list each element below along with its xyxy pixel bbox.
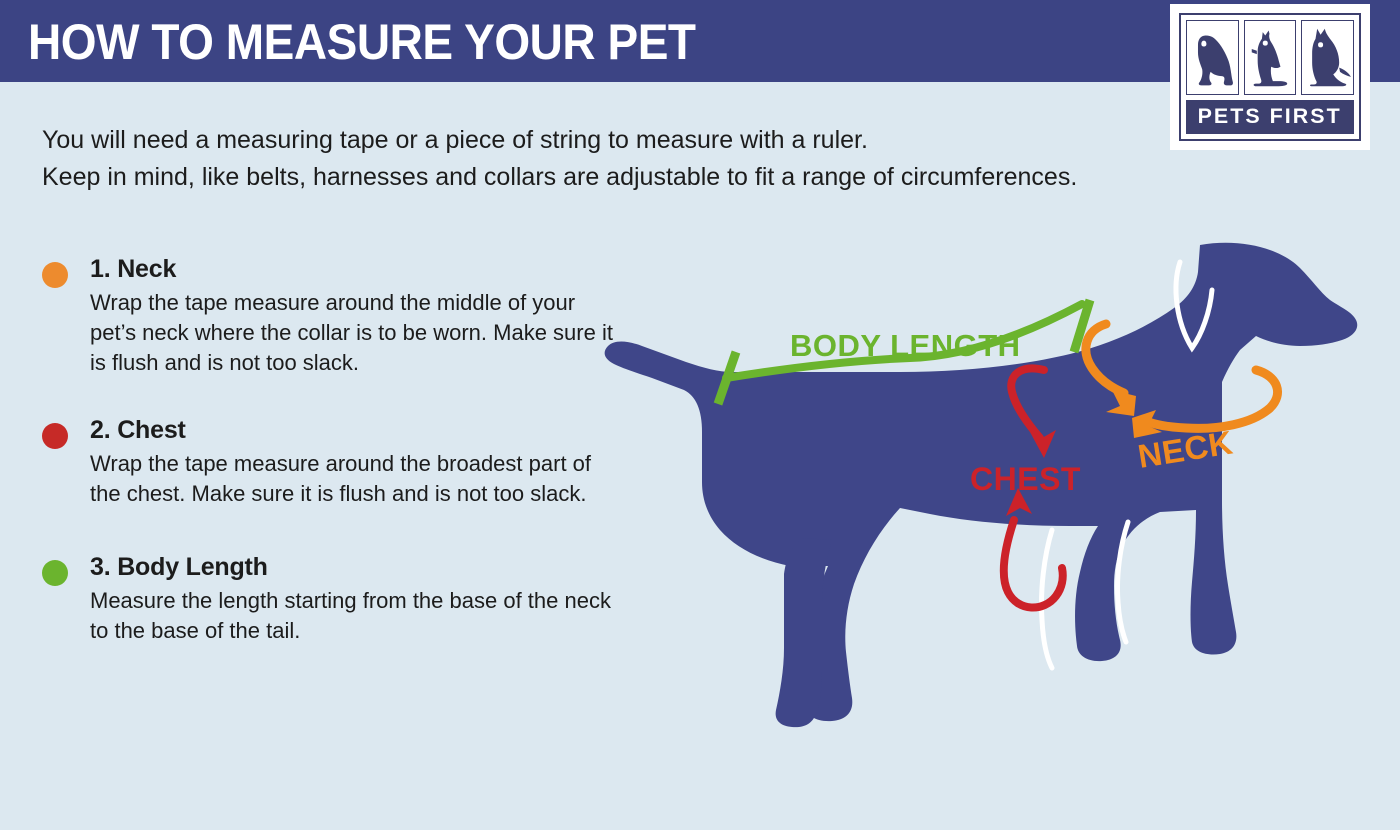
step-body-neck: Wrap the tape measure around the middle … [90, 288, 620, 378]
step-title-neck: 1. Neck [90, 255, 642, 284]
step-body-body-length: Measure the length starting from the bas… [90, 586, 620, 646]
howling-dog-icon [1245, 21, 1296, 94]
shepherd-dog-icon [1302, 21, 1353, 94]
intro-line-1: You will need a measuring tape or a piec… [42, 122, 1162, 159]
intro-text: You will need a measuring tape or a piec… [42, 122, 1162, 196]
page-title: HOW TO MEASURE YOUR PET [28, 14, 696, 70]
logo-panel-howling-dog [1244, 20, 1297, 95]
bullet-body-length [42, 560, 68, 586]
step-item-neck: 1. Neck Wrap the tape measure around the… [42, 255, 642, 378]
step-item-body-length: 3. Body Length Measure the length starti… [42, 553, 642, 646]
label-chest: CHEST [970, 461, 1081, 497]
logo-name-box: PETS FIRST [1186, 100, 1354, 134]
logo-panel-sitting-dog [1186, 20, 1239, 95]
step-title-body-length: 3. Body Length [90, 553, 642, 582]
dog-measurement-diagram: BODY LENGTH NECK CHEST [600, 200, 1400, 830]
label-body-length: BODY LENGTH [790, 328, 1021, 363]
logo-panel-shepherd-dog [1301, 20, 1354, 95]
measurement-steps-list: 1. Neck Wrap the tape measure around the… [42, 255, 642, 684]
step-item-chest: 2. Chest Wrap the tape measure around th… [42, 416, 642, 509]
logo-panel-row [1186, 20, 1354, 95]
logo-inner-frame: PETS FIRST [1179, 13, 1361, 141]
bullet-neck [42, 262, 68, 288]
sitting-dog-icon [1187, 21, 1238, 94]
step-body-chest: Wrap the tape measure around the broades… [90, 449, 620, 509]
brand-logo: PETS FIRST [1170, 4, 1370, 150]
bullet-chest [42, 423, 68, 449]
logo-name-text: PETS FIRST [1198, 105, 1342, 129]
intro-line-2: Keep in mind, like belts, harnesses and … [42, 159, 1162, 196]
step-title-chest: 2. Chest [90, 416, 642, 445]
